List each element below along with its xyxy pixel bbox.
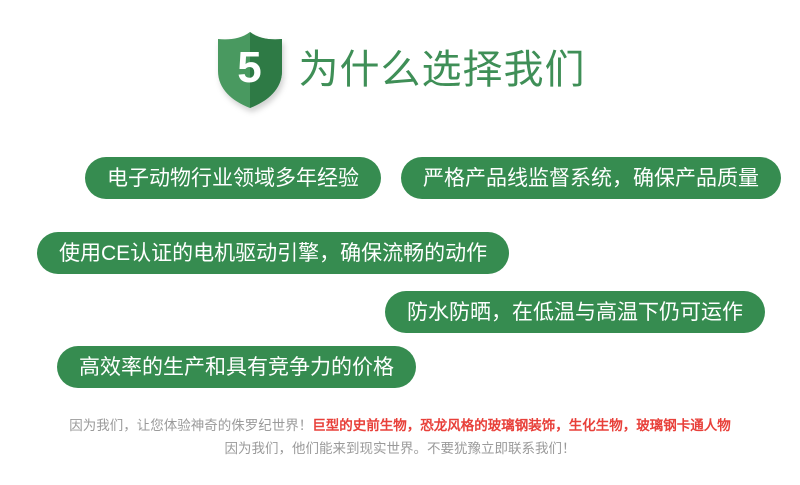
feature-pill-label: 电子动物行业领域多年经验 [107, 168, 359, 189]
feature-pill-label: 防水防晒，在低温与高温下仍可运作 [407, 302, 743, 323]
footer-note: 因为我们，让您体验神奇的侏罗纪世界！巨型的史前生物，恐龙风格的玻璃钢装饰，生化生… [0, 414, 800, 460]
feature-pill-label: 使用CE认证的电机驱动引擎，确保流畅的动作 [59, 243, 487, 264]
feature-pill-weatherproof[interactable]: 防水防晒，在低温与高温下仍可运作 [385, 291, 765, 333]
page-header: 5 为什么选择我们 [0, 24, 800, 116]
footer-line-1-highlight: 巨型的史前生物，恐龙风格的玻璃钢装饰，生化生物，玻璃钢卡通人物 [312, 418, 731, 433]
feature-pill-experience[interactable]: 电子动物行业领域多年经验 [85, 157, 381, 199]
feature-pill-label: 高效率的生产和具有竞争力的价格 [79, 357, 394, 378]
feature-pill-price[interactable]: 高效率的生产和具有竞争力的价格 [57, 346, 416, 388]
page-title: 为什么选择我们 [299, 50, 586, 90]
feature-pill-quality-control[interactable]: 严格产品线监督系统，确保产品质量 [401, 157, 781, 199]
footer-line-1-plain: 因为我们，让您体验神奇的侏罗纪世界！ [69, 418, 312, 433]
shield-badge: 5 [215, 31, 285, 109]
footer-line-2: 因为我们，他们能来到现实世界。不要犹豫立即联系我们！ [0, 437, 800, 460]
feature-pill-label: 严格产品线监督系统，确保产品质量 [423, 168, 759, 189]
shield-icon [215, 31, 285, 109]
feature-pill-ce-motor[interactable]: 使用CE认证的电机驱动引擎，确保流畅的动作 [37, 232, 509, 274]
footer-line-1: 因为我们，让您体验神奇的侏罗纪世界！巨型的史前生物，恐龙风格的玻璃钢装饰，生化生… [0, 414, 800, 437]
